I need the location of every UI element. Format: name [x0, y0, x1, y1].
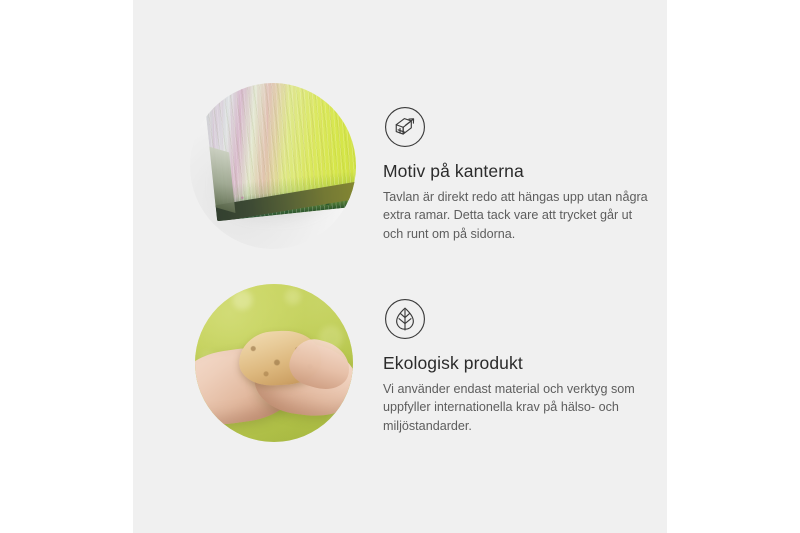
feature-text-column: Ekologisk produkt Vi använder endast mat…: [383, 284, 663, 435]
feature-title: Motiv på kanterna: [383, 161, 663, 182]
canvas-front-face: [203, 83, 356, 221]
content-panel: Motiv på kanterna Tavlan är direkt redo …: [133, 0, 667, 533]
canvas-print-photo: [190, 83, 356, 249]
canvas-wrap-icon: [384, 106, 426, 148]
wood-chips-photo: [195, 284, 353, 442]
leaf-icon: [384, 298, 426, 340]
product-feature-banner: Motiv på kanterna Tavlan är direkt redo …: [0, 0, 800, 533]
feature-text-column: Motiv på kanterna Tavlan är direkt redo …: [383, 83, 663, 243]
feature-title: Ekologisk produkt: [383, 353, 663, 374]
canvas-print-photo-image: [190, 83, 356, 249]
wood-chips-photo-image: [195, 284, 353, 442]
feature-description: Vi använder endast material och verktyg …: [383, 380, 649, 435]
feature-description: Tavlan är direkt redo att hängas upp uta…: [383, 188, 649, 243]
